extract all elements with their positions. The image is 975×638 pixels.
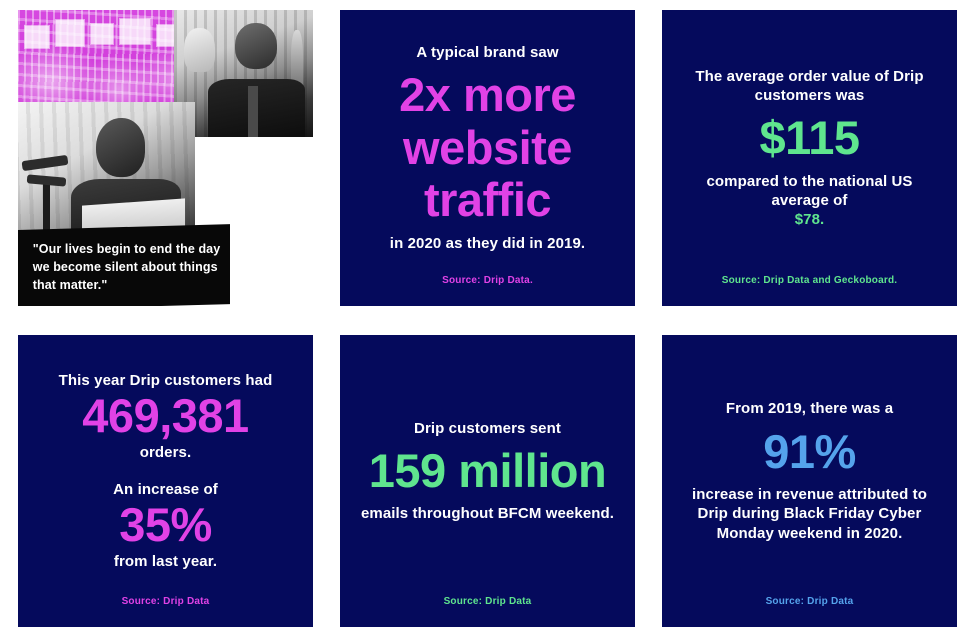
stat-lead-text: From 2019, there was a: [726, 399, 893, 418]
stat-trail-text-secondary: from last year.: [114, 552, 217, 571]
stat-value-secondary: 35%: [119, 499, 212, 552]
protest-sign: [25, 26, 49, 48]
photo-mlk-raised-hand-speaking: [174, 10, 313, 137]
microphone-shape: [21, 155, 68, 172]
stat-lead-text: Drip customers sent: [414, 419, 561, 438]
card-emails-sent: Drip customers sent 159 million emails t…: [340, 335, 635, 627]
stats-card-grid: "Our lives begin to end the day we becom…: [0, 0, 975, 638]
stat-lead-text: This year Drip customers had: [59, 371, 273, 390]
head-shape: [235, 23, 277, 69]
card-orders-increase: This year Drip customers had 469,381 ord…: [18, 335, 313, 627]
stat-lead-text: A typical brand saw: [416, 43, 558, 62]
stat-lead-text: The average order value of Drip customer…: [678, 67, 941, 105]
stat-trail-text: emails throughout BFCM weekend.: [361, 504, 614, 523]
source-attribution: Source: Drip Data: [340, 596, 635, 607]
stat-value: 469,381: [82, 390, 248, 443]
source-attribution: Source: Drip Data.: [340, 275, 635, 286]
head-shape: [96, 118, 146, 177]
card-revenue-increase: From 2019, there was a 91% increase in r…: [662, 335, 957, 627]
stat-trail-highlight: $78.: [795, 210, 825, 229]
card-website-traffic: A typical brand saw 2x more website traf…: [340, 10, 635, 306]
stat-trail-text: increase in revenue attributed to Drip d…: [678, 485, 941, 543]
source-attribution: Source: Drip Data and Geckoboard.: [662, 275, 957, 286]
mlk-quote-text: "Our lives begin to end the day we becom…: [33, 240, 240, 294]
collage-canvas: "Our lives begin to end the day we becom…: [18, 10, 313, 306]
protest-sign: [120, 19, 149, 44]
source-attribution: Source: Drip Data: [18, 596, 313, 607]
stat-value: $115: [760, 112, 860, 165]
stat-value: 91%: [763, 426, 856, 479]
source-attribution: Source: Drip Data: [662, 596, 957, 607]
protest-sign: [91, 24, 113, 44]
stat-trail-text: orders.: [140, 443, 192, 462]
card-mlk-collage: "Our lives begin to end the day we becom…: [18, 10, 313, 306]
stat-value: 159 million: [369, 445, 606, 498]
stat-value: 2x more website traffic: [356, 69, 619, 227]
stat-trail-text: in 2020 as they did in 2019.: [390, 234, 585, 253]
microphone-shape: [27, 174, 67, 186]
stat-lead-text-secondary: An increase of: [113, 480, 218, 499]
card-average-order-value: The average order value of Drip customer…: [662, 10, 957, 306]
raised-hand-shape: [184, 28, 215, 73]
protest-sign: [56, 20, 83, 46]
stat-trail-text: compared to the national US average of: [678, 172, 941, 210]
